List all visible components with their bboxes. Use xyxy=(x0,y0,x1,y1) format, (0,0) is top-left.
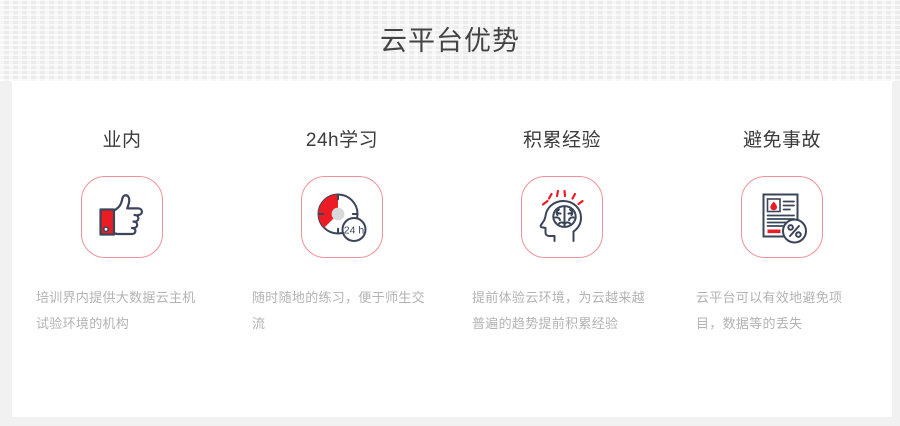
feature-title: 业内 xyxy=(102,128,141,154)
features-card: 业内 xyxy=(12,81,892,417)
feature-title: 24h学习 xyxy=(306,128,378,154)
bottom-rail xyxy=(0,417,900,426)
feature-icon-box[interactable] xyxy=(81,176,163,258)
feature-description: 随时随地的练习，便于师生交流 xyxy=(252,285,432,337)
feature-item-industry[interactable]: 业内 xyxy=(12,81,232,417)
right-rail xyxy=(892,81,900,417)
feature-item-avoid-accident[interactable]: 避免事故 xyxy=(672,81,892,417)
feature-description: 云平台可以有效地避免项目，数据等的丢失 xyxy=(696,285,868,337)
feature-icon-box[interactable]: 24 h xyxy=(301,176,383,258)
clock-24h-icon: 24 h xyxy=(313,189,371,245)
feature-item-experience[interactable]: 积累经验 xyxy=(452,81,672,417)
left-rail xyxy=(0,81,12,417)
feature-item-24h-learning[interactable]: 24h学习 xyxy=(232,81,452,417)
page-title: 云平台优势 xyxy=(0,23,900,59)
document-percent-icon xyxy=(753,189,811,245)
feature-icon-box[interactable] xyxy=(521,176,603,258)
brain-head-icon xyxy=(533,189,591,245)
clock-badge-label: 24 h xyxy=(344,225,365,237)
feature-icon-box[interactable] xyxy=(741,176,823,258)
feature-title: 避免事故 xyxy=(743,128,821,154)
feature-title: 积累经验 xyxy=(523,128,601,154)
feature-description: 培训界内提供大数据云主机试验环境的机构 xyxy=(36,285,208,337)
features-row: 业内 xyxy=(12,81,892,417)
page-root: 云平台优势 业内 xyxy=(0,0,900,426)
thumbs-up-icon xyxy=(93,189,151,245)
feature-description: 提前体验云环境，为云越来越普遍的趋势提前积累经验 xyxy=(472,285,652,337)
